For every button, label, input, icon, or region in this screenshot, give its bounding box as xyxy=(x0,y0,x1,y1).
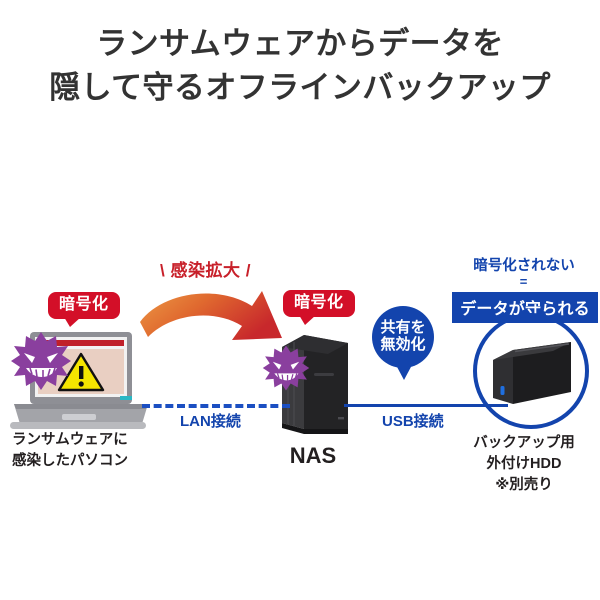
caption-backup-hdd-line-1: バックアップ用 xyxy=(448,433,600,454)
badge-encrypt-pc: 暗号化 xyxy=(48,292,120,319)
caption-infected-pc: ランサムウェアに 感染したパソコン xyxy=(12,430,128,472)
infographic-canvas: ランサムウェアからデータを 隠して守るオフラインバックアップ \ 感染拡大 / xyxy=(0,0,600,600)
caption-infected-pc-line-1: ランサムウェアに xyxy=(12,430,128,451)
caption-nas: NAS xyxy=(258,440,368,472)
protected-callout: 暗号化されない = xyxy=(450,258,598,288)
lan-connection-line xyxy=(142,404,290,408)
virus-icon xyxy=(10,330,72,392)
virus-icon xyxy=(262,344,310,392)
caption-backup-hdd-line-3: ※別売り xyxy=(448,475,600,496)
spread-slash-right: / xyxy=(246,261,251,281)
infection-spread-label: \ 感染拡大 / xyxy=(160,256,251,281)
lan-connection-label: LAN接続 xyxy=(180,410,241,431)
spread-text: 感染拡大 xyxy=(170,261,240,280)
external-hdd-icon xyxy=(487,330,579,410)
usb-connection-label: USB接続 xyxy=(382,410,444,431)
protected-equals: = xyxy=(450,275,598,288)
badge-share-disable-line-2: 無効化 xyxy=(380,337,425,354)
caption-backup-hdd: バックアップ用 外付けHDD ※別売り xyxy=(448,433,600,496)
page-title-line-2: 隠して守るオフラインバックアップ xyxy=(0,66,600,110)
page-title-line-1: ランサムウェアからデータを xyxy=(0,22,600,66)
caption-infected-pc-line-2: 感染したパソコン xyxy=(12,451,128,472)
protected-line-1: 暗号化されない xyxy=(473,258,575,274)
spread-slash-left: \ xyxy=(160,261,165,281)
page-title: ランサムウェアからデータを 隠して守るオフラインバックアップ xyxy=(0,22,600,110)
badge-share-disable: 共有を 無効化 xyxy=(372,306,434,368)
badge-share-disable-line-1: 共有を xyxy=(380,320,425,337)
caption-backup-hdd-line-2: 外付けHDD xyxy=(448,454,600,475)
badge-encrypt-nas: 暗号化 xyxy=(283,290,355,317)
